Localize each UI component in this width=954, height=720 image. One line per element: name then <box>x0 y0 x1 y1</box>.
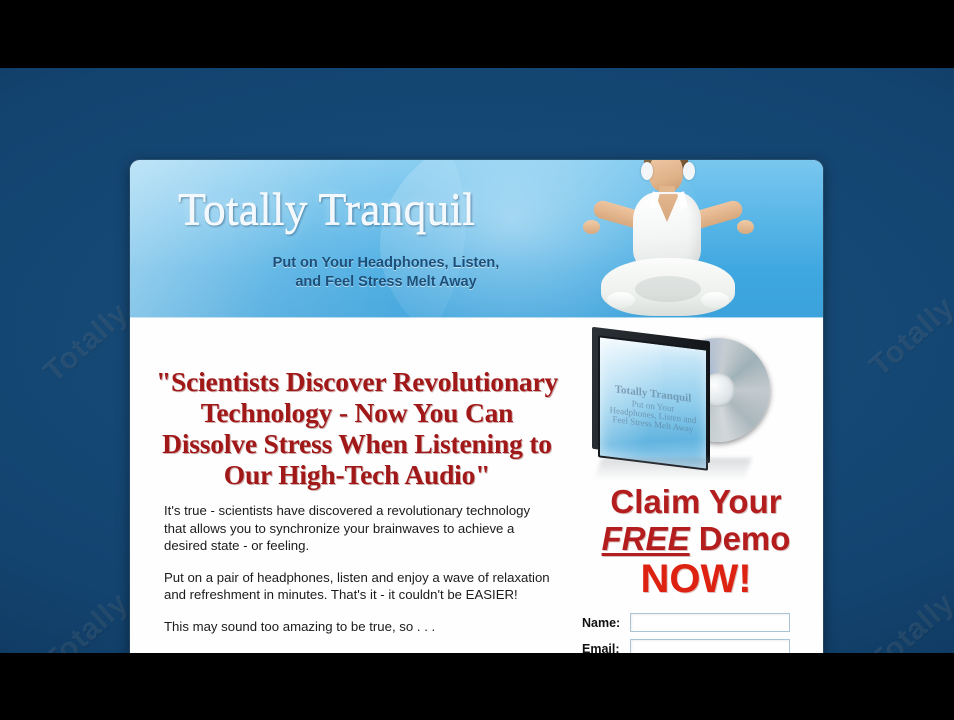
name-field-label: Name: <box>582 616 630 630</box>
product-cd-image: Totally Tranquil Put on Your Headphones,… <box>584 328 774 478</box>
foot-right-shape <box>701 292 729 308</box>
headphones-band-icon <box>651 160 683 166</box>
cta-line-3: NOW! <box>578 557 814 601</box>
hand-right-shape <box>737 220 754 234</box>
optin-form: Name: Email: <box>578 613 814 653</box>
offer-column: Totally Tranquil Put on Your Headphones,… <box>578 326 814 653</box>
cta-line-1: Claim Your <box>578 484 814 520</box>
email-field-label: Email: <box>582 642 630 654</box>
site-logo-title: Totally Tranquil <box>178 182 475 235</box>
page-headline: "Scientists Discover Revolutionary Techn… <box>152 366 562 490</box>
foot-left-shape <box>607 292 635 308</box>
video-frame: Totally Totally Totally Totally Totally … <box>0 68 954 653</box>
cta-block: Claim Your FREE Demo NOW! <box>578 484 814 601</box>
letterbox-bottom-bar <box>0 653 954 720</box>
cta-line-2: FREE Demo <box>578 520 814 557</box>
watermark-text: Totally <box>38 296 136 389</box>
tagline-line-2: and Feel Stress Melt Away <box>216 273 556 292</box>
landing-page-card: Totally Tranquil Put on Your Headphones,… <box>130 160 823 653</box>
form-row-email: Email: <box>582 639 814 653</box>
meditating-woman-photo <box>571 160 771 318</box>
letterbox-top-bar <box>0 0 954 68</box>
body-paragraph-2: Put on a pair of headphones, listen and … <box>152 569 562 604</box>
name-input[interactable] <box>630 613 790 632</box>
site-tagline: Put on Your Headphones, Listen, and Feel… <box>216 254 556 292</box>
header-banner: Totally Tranquil Put on Your Headphones,… <box>130 160 823 318</box>
lap-shadow <box>635 276 701 302</box>
watermark-text: Totally <box>864 586 954 653</box>
email-input[interactable] <box>630 639 790 653</box>
sales-copy-column: "Scientists Discover Revolutionary Techn… <box>152 366 562 649</box>
tagline-line-1: Put on Your Headphones, Listen, <box>216 254 556 273</box>
video-player-screen: Totally Totally Totally Totally Totally … <box>0 0 954 720</box>
cta-demo-text: Demo <box>690 520 791 557</box>
headphone-earcup-left-icon <box>641 162 653 180</box>
cta-free-emphasis: FREE <box>602 520 690 557</box>
watermark-text: Totally <box>864 290 954 383</box>
headphone-earcup-right-icon <box>683 162 695 180</box>
page-body: "Scientists Discover Revolutionary Techn… <box>130 318 823 653</box>
watermark-text: Totally <box>38 586 136 653</box>
body-paragraph-3: This may sound too amazing to be true, s… <box>152 618 562 636</box>
cd-reflection <box>594 458 751 480</box>
cd-case-front: Totally Tranquil Put on Your Headphones,… <box>598 335 708 471</box>
hand-left-shape <box>583 220 600 234</box>
body-paragraph-1: It's true - scientists have discovered a… <box>152 502 562 555</box>
form-row-name: Name: <box>582 613 814 632</box>
